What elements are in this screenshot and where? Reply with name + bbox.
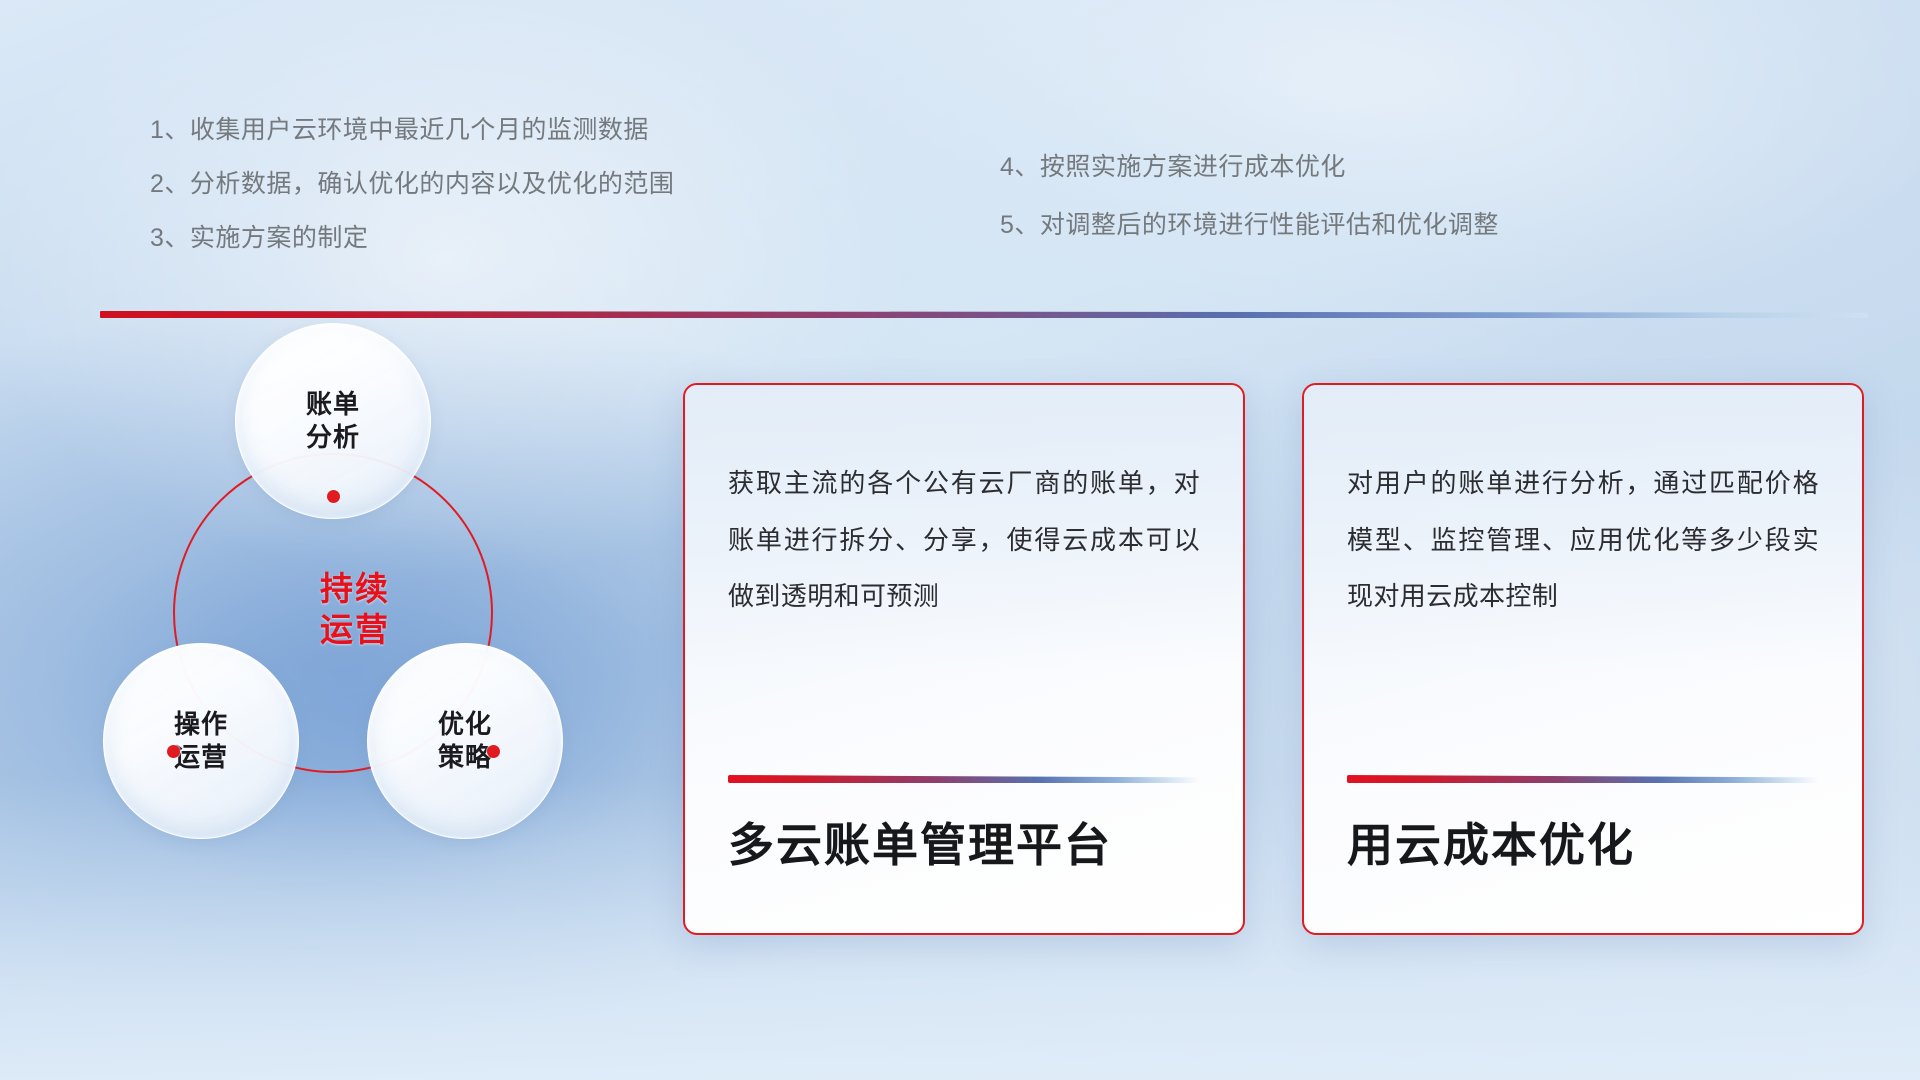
bubble-operations-label: 操作 运营 [174, 708, 228, 775]
process-left-column: 1、收集用户云环境中最近几个月的监测数据 2、分析数据，确认优化的内容以及优化的… [150, 118, 674, 280]
card-2-body: 对用户的账单进行分析，通过匹配价格模型、监控管理、应用优化等多少段实现对用云成本… [1347, 455, 1819, 625]
bubble-optimization-line2: 策略 [438, 742, 492, 772]
process-right-column: 4、按照实施方案进行成本优化 5、对调整后的环境进行性能评估和优化调整 [1000, 155, 1499, 271]
card-1-divider [728, 775, 1200, 783]
bubble-bill-analysis-line2: 分析 [306, 422, 360, 452]
bubble-operations[interactable]: 操作 运营 [103, 643, 299, 839]
venn-circle-diagram: 账单 分析 操作 运营 优化 策略 持续 运营 [95, 345, 615, 865]
process-step-4: 4、按照实施方案进行成本优化 [1000, 155, 1499, 180]
card-1-body: 获取主流的各个公有云厂商的账单，对账单进行拆分、分享，使得云成本可以做到透明和可… [728, 455, 1200, 625]
diagram-center-line2: 运营 [320, 611, 390, 648]
bubble-operations-line1: 操作 [174, 709, 228, 739]
card-1-title: 多云账单管理平台 [728, 809, 1112, 875]
bubble-bill-analysis-node [327, 490, 340, 503]
process-step-2: 2、分析数据，确认优化的内容以及优化的范围 [150, 172, 674, 197]
card-cloud-cost-optimization[interactable]: 对用户的账单进行分析，通过匹配价格模型、监控管理、应用优化等多少段实现对用云成本… [1302, 383, 1864, 935]
bubble-operations-line2: 运营 [174, 742, 228, 772]
process-step-5: 5、对调整后的环境进行性能评估和优化调整 [1000, 213, 1499, 238]
card-multi-cloud-bill-platform[interactable]: 获取主流的各个公有云厂商的账单，对账单进行拆分、分享，使得云成本可以做到透明和可… [683, 383, 1245, 935]
card-2-divider [1347, 775, 1819, 783]
bubble-operations-node [167, 745, 180, 758]
feature-card-list: 获取主流的各个公有云厂商的账单，对账单进行拆分、分享，使得云成本可以做到透明和可… [683, 383, 1864, 935]
bubble-optimization-line1: 优化 [438, 709, 492, 739]
diagram-center-label: 持续 运营 [95, 569, 615, 651]
bubble-optimization-strategy-label: 优化 策略 [438, 708, 492, 775]
diagram-center-line1: 持续 [320, 570, 390, 607]
bubble-optimization-strategy[interactable]: 优化 策略 [367, 643, 563, 839]
card-2-title: 用云成本优化 [1347, 809, 1635, 875]
bubble-bill-analysis-line1: 账单 [306, 389, 360, 419]
bubble-bill-analysis-label: 账单 分析 [306, 388, 360, 455]
process-step-1: 1、收集用户云环境中最近几个月的监测数据 [150, 118, 674, 143]
process-step-3: 3、实施方案的制定 [150, 226, 674, 251]
bubble-optimization-node [487, 745, 500, 758]
